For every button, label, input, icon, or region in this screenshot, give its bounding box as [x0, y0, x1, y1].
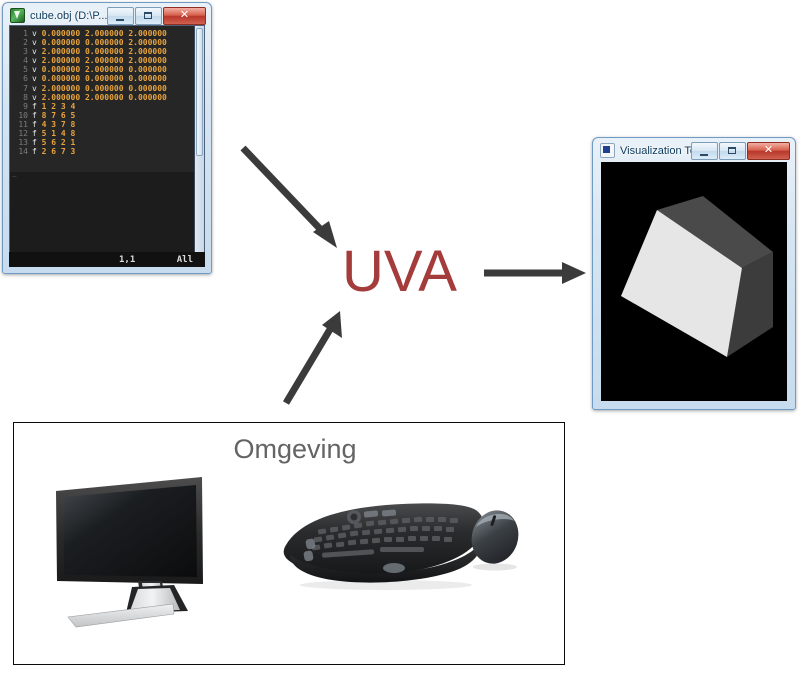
gvim-text-buffer[interactable]: 1v 0.000000 2.000000 2.0000002v 0.000000… — [10, 26, 194, 266]
gvim-window-buttons: ✕ — [107, 7, 206, 25]
gvim-line-values: 0.000000 2.000000 0.000000 — [42, 65, 167, 74]
gvim-line-keyword: f — [32, 129, 42, 138]
gvim-line: 2v 0.000000 0.000000 2.000000 — [10, 38, 194, 47]
vtk-icon — [600, 143, 615, 158]
gvim-line-keyword: f — [32, 147, 42, 156]
gvim-line-values: 4 3 7 8 — [42, 120, 76, 129]
gvim-tilde-marker: ~ — [12, 172, 17, 181]
gvim-line: 14f 2 6 7 3 — [10, 147, 194, 156]
gvim-line-number: 12 — [10, 129, 28, 138]
gvim-line-number: 10 — [10, 111, 28, 120]
maximize-button[interactable] — [719, 142, 746, 160]
gvim-line-keyword: v — [32, 29, 42, 38]
vtk-render-canvas[interactable] — [601, 162, 787, 401]
gvim-line-number: 2 — [10, 38, 28, 47]
gvim-line-number: 11 — [10, 120, 28, 129]
gvim-line: 6v 0.000000 0.000000 0.000000 — [10, 74, 194, 83]
gvim-line-number: 14 — [10, 147, 28, 156]
gvim-line-values: 0.000000 0.000000 0.000000 — [42, 74, 167, 83]
gvim-line-values: 1 2 3 4 — [42, 102, 76, 111]
gvim-line-keyword: f — [32, 102, 42, 111]
gvim-line-keyword: v — [32, 74, 42, 83]
gvim-window[interactable]: cube.obj (D:\P...touch\src) - GVIM ✕ 1v … — [2, 2, 212, 274]
vtk-titlebar[interactable]: Visualization Toolkit - Win32Open... ✕ — [596, 141, 792, 160]
gvim-line-keyword: v — [32, 84, 42, 93]
gvim-editor-area[interactable]: 1v 0.000000 2.000000 2.0000002v 0.000000… — [9, 25, 205, 267]
gvim-line-values: 2.000000 0.000000 2.000000 — [42, 47, 167, 56]
cursor-position: 1,1 — [119, 255, 135, 265]
gvim-line-keyword: f — [32, 138, 42, 147]
gvim-line-keyword: f — [32, 120, 42, 129]
monitor-image — [42, 471, 232, 633]
maximize-button[interactable] — [135, 7, 162, 25]
gvim-status-bar: 1,1 All — [9, 252, 205, 267]
keyboard-image — [276, 487, 528, 593]
vtk-window[interactable]: Visualization Toolkit - Win32Open... ✕ — [592, 137, 796, 410]
cube-3d-object — [601, 162, 787, 401]
gvim-scrollbar[interactable] — [194, 26, 204, 266]
gvim-line: 8v 2.000000 2.000000 0.000000 — [10, 93, 194, 102]
gvim-line-number: 9 — [10, 102, 28, 111]
gvim-line-number: 1 — [10, 29, 28, 38]
gvim-window-title: cube.obj (D:\P...touch\src) - GVIM — [30, 10, 107, 22]
gvim-line-number: 3 — [10, 47, 28, 56]
gvim-line-values: 5 6 2 1 — [42, 138, 76, 147]
gvim-line-keyword: v — [32, 38, 42, 47]
gvim-line: 3v 2.000000 0.000000 2.000000 — [10, 47, 194, 56]
close-button[interactable]: ✕ — [747, 142, 790, 160]
gvim-line-values: 2 6 7 3 — [42, 147, 76, 156]
gvim-line-keyword: f — [32, 111, 42, 120]
minimize-button[interactable] — [107, 7, 134, 25]
scroll-indicator: All — [177, 255, 193, 265]
gvim-line-values: 2.000000 2.000000 2.000000 — [42, 56, 167, 65]
arrow-uva-to-vtk — [482, 258, 592, 288]
vtk-window-title: Visualization Toolkit - Win32Open... — [620, 145, 691, 157]
gvim-line: 10f 8 7 6 5 — [10, 111, 194, 120]
gvim-titlebar[interactable]: cube.obj (D:\P...touch\src) - GVIM ✕ — [6, 6, 208, 25]
gvim-line-number: 4 — [10, 56, 28, 65]
gvim-line: 12f 5 1 4 8 — [10, 129, 194, 138]
gvim-line-keyword: v — [32, 47, 42, 56]
gvim-line: 11f 4 3 7 8 — [10, 120, 194, 129]
gvim-line-number: 7 — [10, 84, 28, 93]
gvim-line: 13f 5 6 2 1 — [10, 138, 194, 147]
gvim-line: 9f 1 2 3 4 — [10, 102, 194, 111]
gvim-line-values: 2.000000 0.000000 0.000000 — [42, 84, 167, 93]
gvim-line-values: 0.000000 2.000000 2.000000 — [42, 29, 167, 38]
gvim-line-keyword: v — [32, 56, 42, 65]
gvim-line-number: 6 — [10, 74, 28, 83]
gvim-line-keyword: v — [32, 65, 42, 74]
gvim-line: 5v 0.000000 2.000000 0.000000 — [10, 65, 194, 74]
gvim-line: 1v 0.000000 2.000000 2.000000 — [10, 29, 194, 38]
close-button[interactable]: ✕ — [163, 7, 206, 25]
arrow-omgeving-to-uva — [270, 300, 370, 410]
gvim-line-keyword: v — [32, 93, 42, 102]
omgeving-title: Omgeving — [14, 434, 564, 465]
gvim-scrollbar-thumb[interactable] — [196, 28, 203, 156]
gvim-line-values: 8 7 6 5 — [42, 111, 76, 120]
gvim-line-values: 0.000000 0.000000 2.000000 — [42, 38, 167, 47]
uva-label: UVA — [342, 243, 457, 301]
gvim-line-number: 13 — [10, 138, 28, 147]
gvim-line-number: 8 — [10, 93, 28, 102]
gvim-line-list: 1v 0.000000 2.000000 2.0000002v 0.000000… — [10, 29, 194, 156]
gvim-line-number: 5 — [10, 65, 28, 74]
gvim-icon — [10, 8, 25, 23]
vtk-window-buttons: ✕ — [691, 142, 790, 160]
gvim-line: 7v 2.000000 0.000000 0.000000 — [10, 84, 194, 93]
gvim-line: 4v 2.000000 2.000000 2.000000 — [10, 56, 194, 65]
omgeving-panel: Omgeving — [13, 422, 565, 665]
gvim-line-values: 5 1 4 8 — [42, 129, 76, 138]
minimize-button[interactable] — [691, 142, 718, 160]
keyboard-logo-badge — [383, 563, 405, 573]
gvim-line-values: 2.000000 2.000000 0.000000 — [42, 93, 167, 102]
